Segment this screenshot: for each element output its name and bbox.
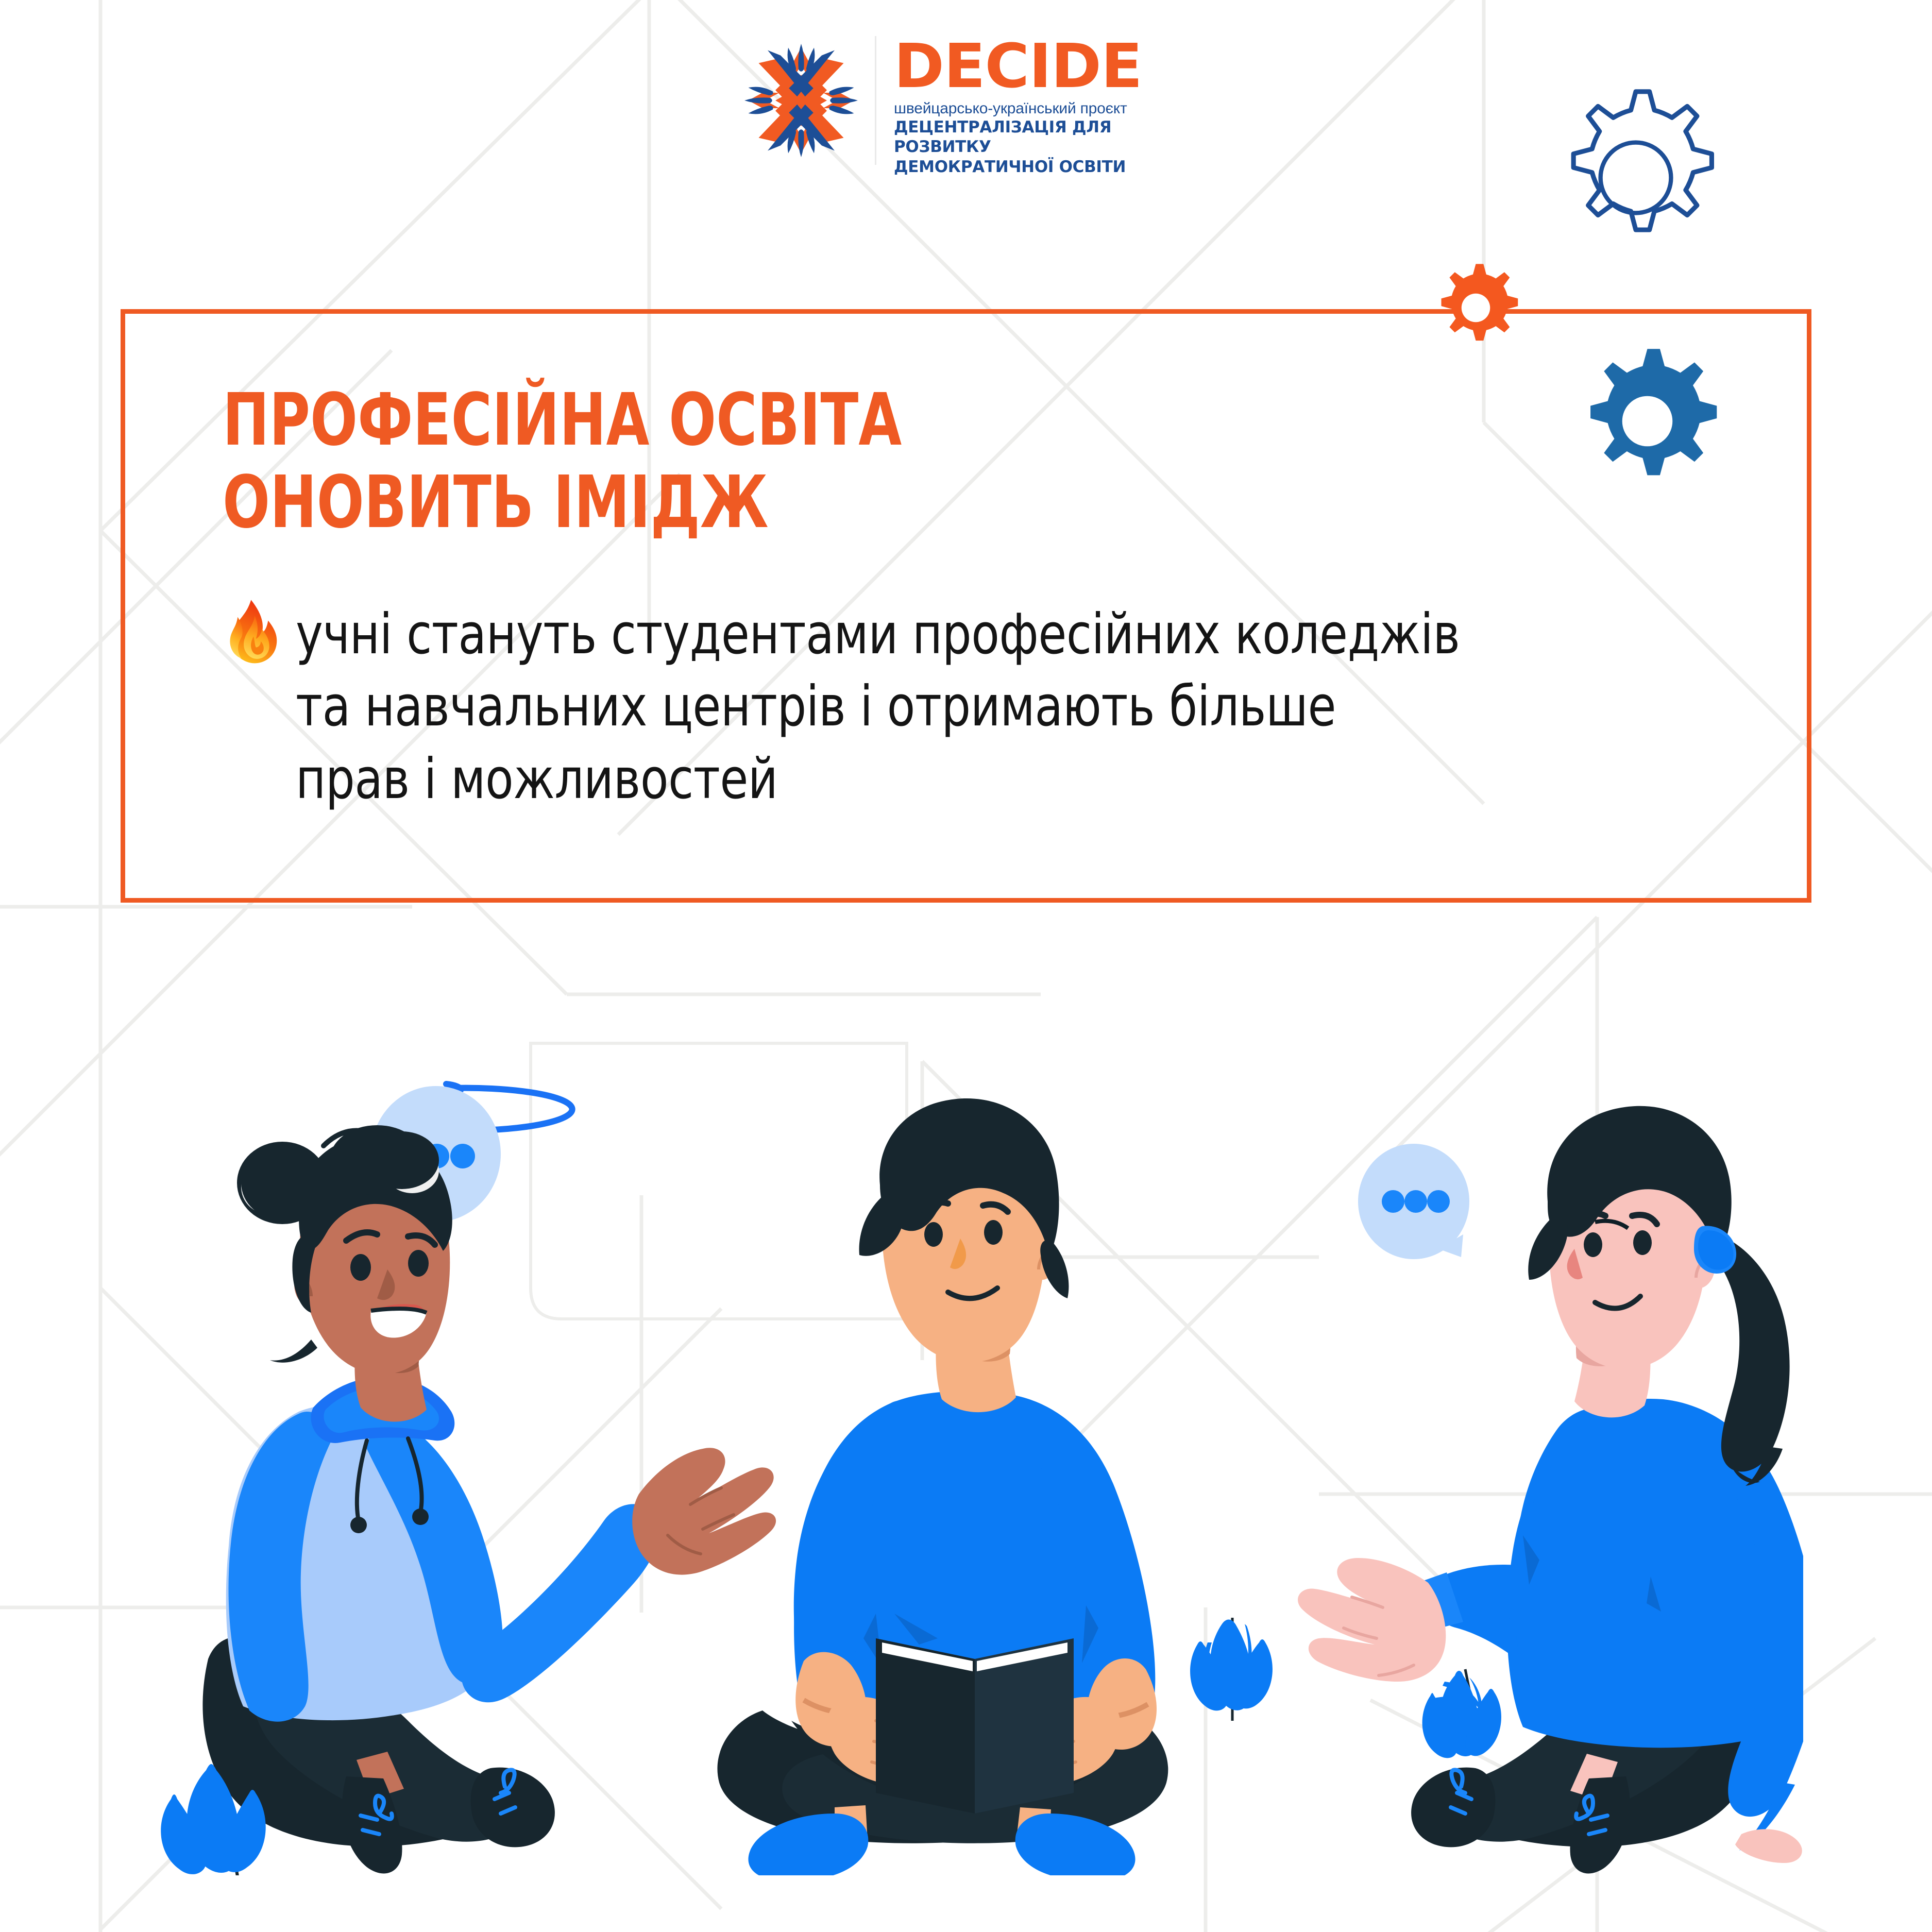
figure-center-man-reading	[717, 1098, 1272, 1875]
logo-subtitle-line2: ДЕМОКРАТИЧНОЇ ОСВІТИ	[894, 157, 1190, 177]
decide-logo: DECIDE швейцарсько-український проєкт ДЕ…	[737, 36, 1190, 201]
gear-filled-orange-icon	[1428, 260, 1523, 355]
callout-body-text: учні стануть студентами професійних коле…	[296, 599, 1461, 816]
page-title: ПРОФЕСІЙНА ОСВІТА ОНОВИТЬ ІМІДЖ	[223, 379, 1286, 544]
fire-icon	[223, 599, 284, 666]
callout-body-row: учні стануть студентами професійних коле…	[223, 599, 1562, 816]
figure-right-woman-ponytail	[1298, 1106, 1803, 1874]
logo-divider	[875, 36, 876, 165]
speech-bubble-right	[1358, 1144, 1469, 1259]
gear-outline-icon	[1538, 80, 1734, 276]
headline-line-2: ОНОВИТЬ ІМІДЖ	[223, 462, 1286, 544]
logo-wordmark: DECIDE	[894, 38, 1190, 94]
three-students-sitting-discussion	[155, 999, 1803, 1875]
logo-text-block: DECIDE швейцарсько-український проєкт ДЕ…	[894, 36, 1190, 177]
decide-snowflake-ornament-icon	[737, 36, 866, 165]
figure-left-woman-hoodie	[202, 1084, 776, 1873]
logo-subtitle-line1: ДЕЦЕНТРАЛІЗАЦІЯ ДЛЯ РОЗВИТКУ	[894, 117, 1190, 157]
leaf-decor-right	[1422, 1669, 1501, 1758]
logo-tagline: швейцарсько-український проєкт	[894, 99, 1190, 117]
headline-line-1: ПРОФЕСІЙНА ОСВІТА	[223, 379, 1286, 462]
poster-canvas: DECIDE швейцарсько-український проєкт ДЕ…	[0, 0, 1932, 1932]
leaf-decor-center	[1190, 1618, 1273, 1721]
